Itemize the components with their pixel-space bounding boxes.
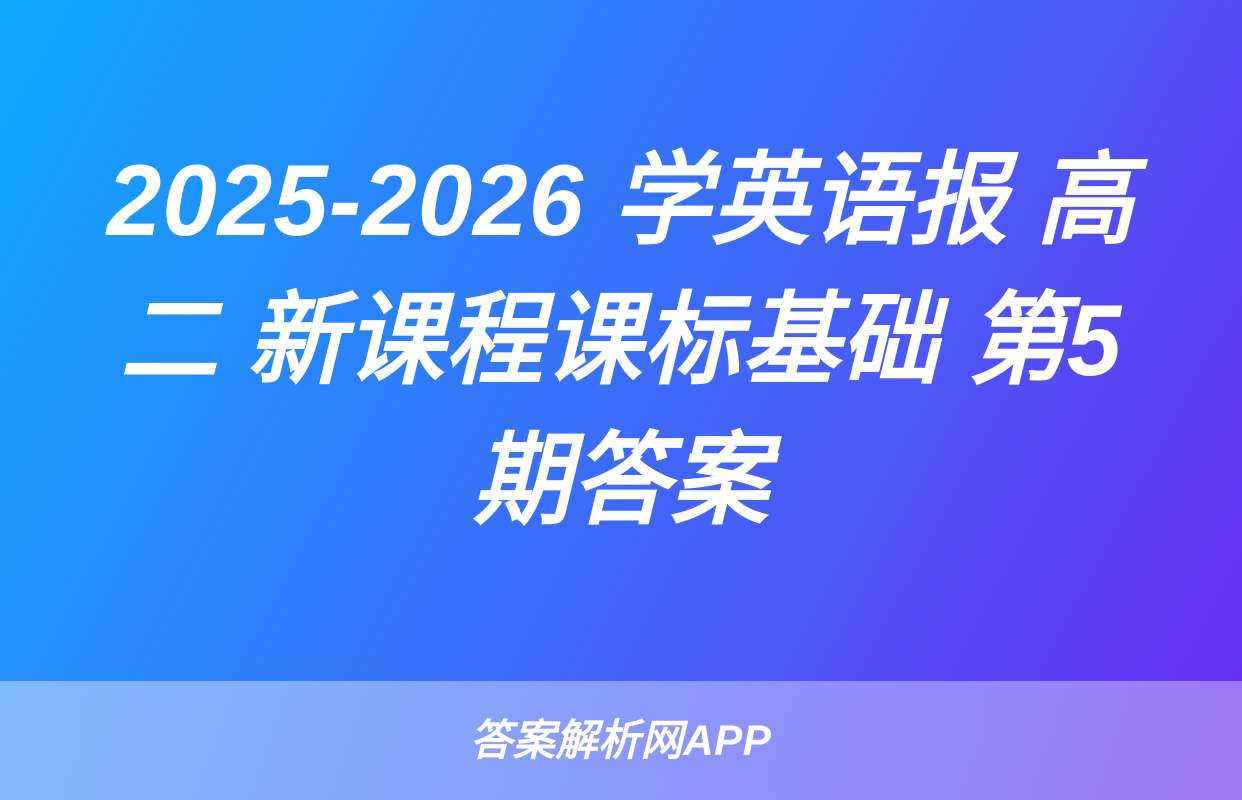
answer-cover-card: 2025-2026 学英语报 高二 新课程课标基础 第5期答案 答案解析网APP [0, 0, 1242, 800]
hero-gradient-panel: 2025-2026 学英语报 高二 新课程课标基础 第5期答案 [0, 0, 1242, 681]
footer-watermark-band: 答案解析网APP [0, 681, 1242, 800]
page-title: 2025-2026 学英语报 高二 新课程课标基础 第5期答案 [88, 131, 1153, 551]
watermark-container: 答案解析网APP [467, 715, 774, 767]
app-watermark-label: 答案解析网APP [470, 715, 771, 767]
